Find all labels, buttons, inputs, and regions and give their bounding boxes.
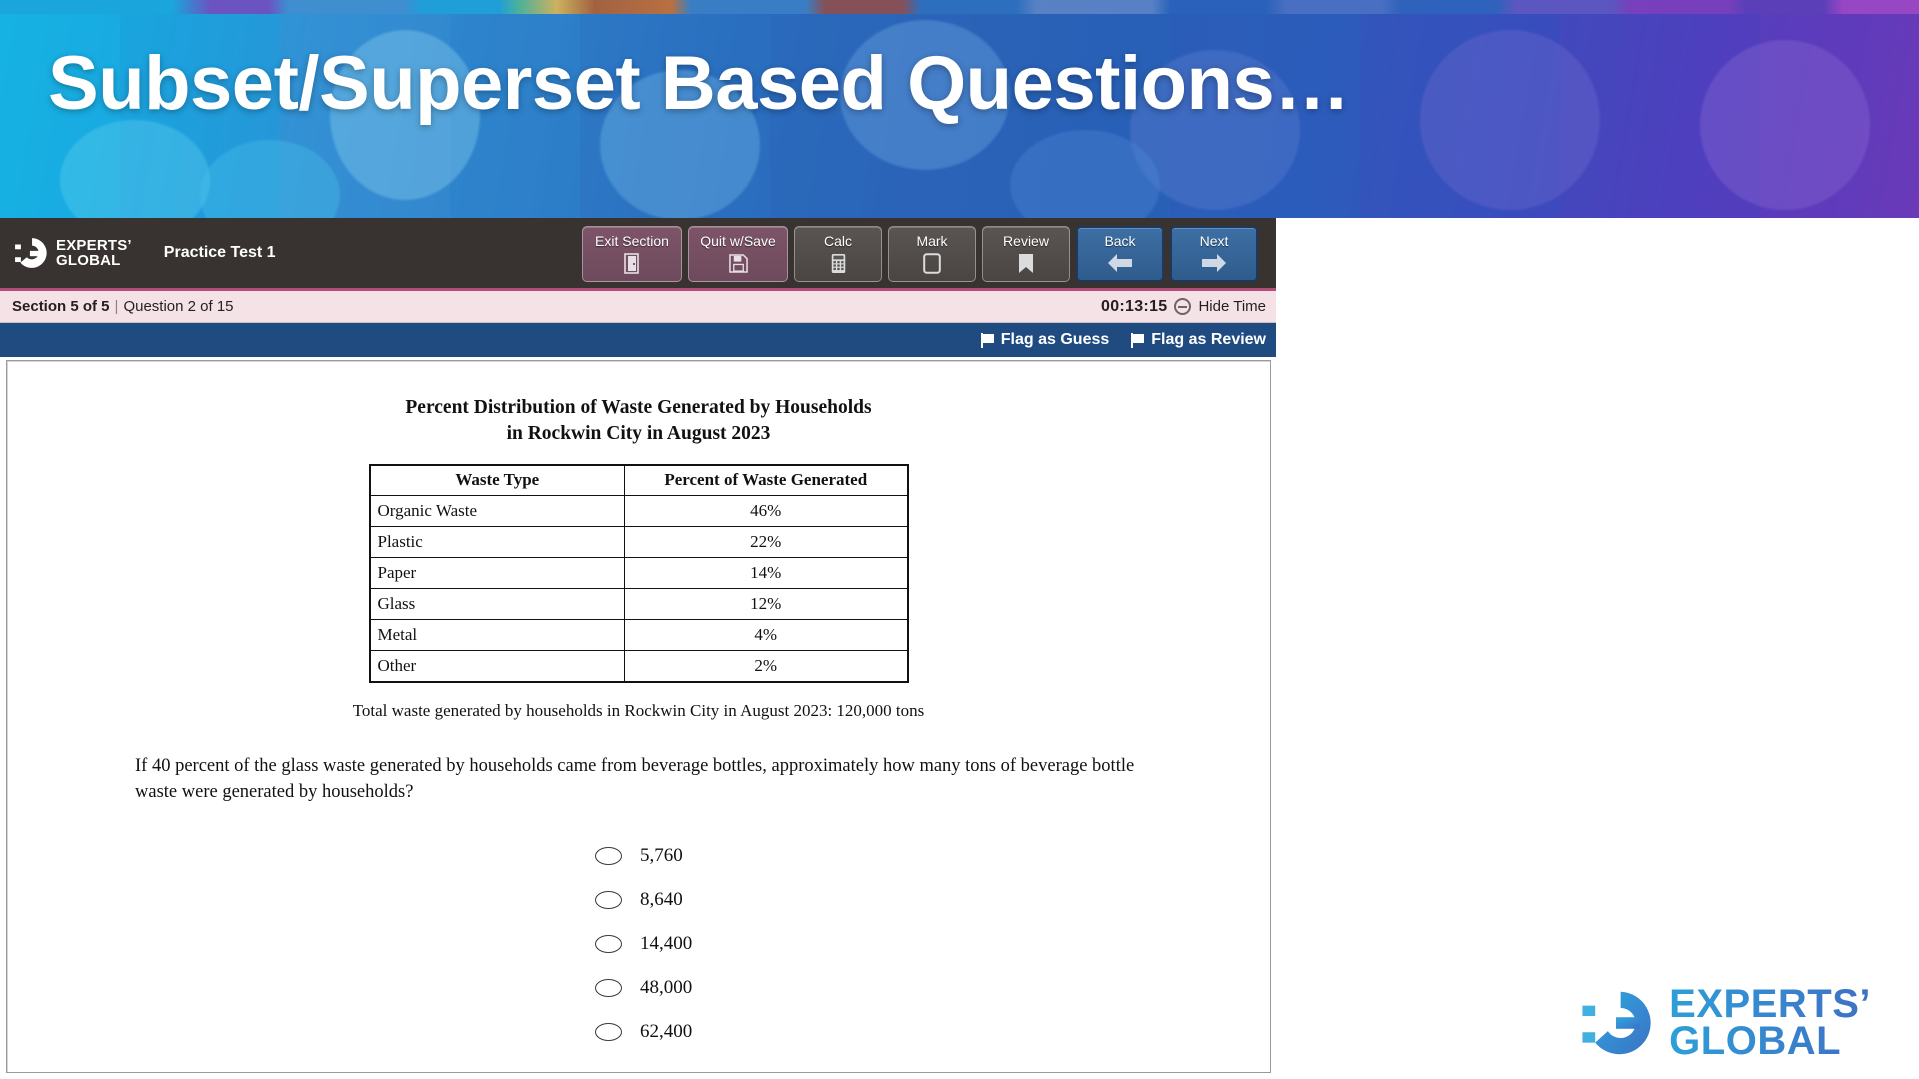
header-logo-text: EXPERTS’ GLOBAL — [56, 238, 132, 268]
waste-distribution-table: Waste Type Percent of Waste Generated Or… — [369, 464, 909, 683]
question-prompt: If 40 percent of the glass waste generat… — [7, 753, 1270, 807]
cell-percent: 22% — [625, 527, 908, 558]
answer-choice[interactable]: 14,400 — [595, 922, 1270, 966]
status-bar: Section 5 of 5|Question 2 of 15 00:13:15… — [0, 291, 1276, 323]
flag-as-guess-button[interactable]: Flag as Guess — [981, 331, 1110, 349]
slide-title: Subset/Superset Based Questions… — [48, 46, 1350, 122]
minus-circle-icon[interactable] — [1174, 298, 1191, 315]
review-label: Review — [1003, 234, 1049, 248]
table-title: Percent Distribution of Waste Generated … — [7, 395, 1270, 448]
table-row: Paper 14% — [370, 558, 908, 589]
table-header-row: Waste Type Percent of Waste Generated — [370, 465, 908, 496]
experts-global-mark-icon — [14, 236, 48, 270]
total-waste-note: Total waste generated by households in R… — [7, 701, 1270, 721]
radio-button[interactable] — [595, 935, 622, 953]
calculator-label: Calc — [824, 234, 852, 248]
question-panel: Percent Distribution of Waste Generated … — [6, 360, 1271, 1073]
table-row: Glass 12% — [370, 589, 908, 620]
header-logo: EXPERTS’ GLOBAL — [14, 236, 132, 270]
practice-test-title: Practice Test 1 — [164, 244, 276, 262]
table-row: Plastic 22% — [370, 527, 908, 558]
experts-global-footer-logo: EXPERTS’ GLOBAL — [1579, 986, 1871, 1061]
flag-as-guess-label: Flag as Guess — [1001, 331, 1110, 349]
cell-percent: 4% — [625, 620, 908, 651]
screenshot-root: Subset/Superset Based Questions… EXPERTS… — [0, 0, 1919, 1079]
table-row: Organic Waste 46% — [370, 496, 908, 527]
answer-choice-label: 14,400 — [640, 933, 692, 955]
experts-global-wordmark: EXPERTS’ GLOBAL — [1669, 986, 1871, 1061]
answer-choice-label: 48,000 — [640, 977, 692, 999]
flag-as-review-button[interactable]: Flag as Review — [1131, 331, 1266, 349]
back-button[interactable]: Back — [1076, 226, 1164, 282]
cell-waste-type: Plastic — [370, 527, 625, 558]
header-brand-line2: GLOBAL — [56, 253, 132, 268]
next-button[interactable]: Next — [1170, 226, 1258, 282]
next-label: Next — [1200, 234, 1229, 248]
answer-choice[interactable]: 8,640 — [595, 878, 1270, 922]
table-row: Metal 4% — [370, 620, 908, 651]
answer-choice-label: 8,640 — [640, 889, 683, 911]
review-button[interactable]: Review — [982, 226, 1070, 282]
toolbar-button-group: Exit Section Quit w/Save Calc — [582, 226, 1258, 282]
cell-percent: 46% — [625, 496, 908, 527]
calculator-icon — [831, 252, 846, 274]
cell-percent: 12% — [625, 589, 908, 620]
cell-waste-type: Other — [370, 651, 625, 682]
progress-indicator: Section 5 of 5|Question 2 of 15 — [12, 298, 234, 315]
answer-choice-list: 5,760 8,640 14,400 48,000 — [7, 834, 1270, 1054]
quit-with-save-button[interactable]: Quit w/Save — [688, 226, 788, 282]
question-indicator: Question 2 of 15 — [123, 298, 233, 315]
countdown-timer: 00:13:15 — [1101, 298, 1167, 316]
flag-as-review-label: Flag as Review — [1151, 331, 1266, 349]
back-label: Back — [1104, 234, 1135, 248]
header-brand-line1: EXPERTS’ — [56, 238, 132, 253]
experts-global-mark-icon — [1579, 986, 1653, 1060]
radio-button[interactable] — [595, 847, 622, 865]
door-icon — [624, 252, 640, 274]
column-header-percent: Percent of Waste Generated — [625, 465, 908, 496]
calculator-button[interactable]: Calc — [794, 226, 882, 282]
question-stem: Percent Distribution of Waste Generated … — [7, 361, 1270, 1054]
cell-waste-type: Metal — [370, 620, 625, 651]
footer-brand-line1: EXPERTS’ — [1669, 986, 1871, 1024]
cell-percent: 14% — [625, 558, 908, 589]
answer-choice[interactable]: 5,760 — [595, 834, 1270, 878]
answer-choice-label: 62,400 — [640, 1021, 692, 1043]
table-row: Other 2% — [370, 651, 908, 682]
flag-icon — [981, 333, 994, 348]
arrow-right-icon — [1201, 252, 1227, 274]
answer-choice[interactable]: 62,400 — [595, 1010, 1270, 1054]
arrow-left-icon — [1107, 252, 1133, 274]
square-icon — [923, 252, 941, 274]
flag-icon — [1131, 333, 1144, 348]
bookmark-icon — [1018, 252, 1034, 274]
test-application-window: EXPERTS’ GLOBAL Practice Test 1 Exit Sec… — [0, 218, 1276, 1079]
table-title-line2: in Rockwin City in August 2023 — [7, 421, 1270, 447]
cell-percent: 2% — [625, 651, 908, 682]
cell-waste-type: Glass — [370, 589, 625, 620]
app-toolbar: EXPERTS’ GLOBAL Practice Test 1 Exit Sec… — [0, 218, 1276, 291]
answer-choice-label: 5,760 — [640, 845, 683, 867]
column-header-waste-type: Waste Type — [370, 465, 625, 496]
radio-button[interactable] — [595, 979, 622, 997]
cell-waste-type: Organic Waste — [370, 496, 625, 527]
mark-button[interactable]: Mark — [888, 226, 976, 282]
exit-section-label: Exit Section — [595, 234, 669, 248]
section-indicator: Section 5 of 5 — [12, 298, 110, 315]
flag-bar: Flag as Guess Flag as Review — [0, 323, 1276, 357]
exit-section-button[interactable]: Exit Section — [582, 226, 682, 282]
answer-choice[interactable]: 48,000 — [595, 966, 1270, 1010]
table-title-line1: Percent Distribution of Waste Generated … — [7, 395, 1270, 421]
slide-banner: Subset/Superset Based Questions… — [0, 0, 1919, 218]
footer-brand-line2: GLOBAL — [1669, 1023, 1871, 1061]
radio-button[interactable] — [595, 891, 622, 909]
hide-time-button[interactable]: Hide Time — [1198, 298, 1266, 315]
timer-area: 00:13:15 Hide Time — [1101, 298, 1266, 316]
quit-with-save-label: Quit w/Save — [700, 234, 775, 248]
cell-waste-type: Paper — [370, 558, 625, 589]
banner-color-strip — [0, 0, 1919, 14]
radio-button[interactable] — [595, 1023, 622, 1041]
status-separator: | — [115, 298, 119, 315]
mark-label: Mark — [916, 234, 947, 248]
floppy-disk-icon — [729, 252, 748, 274]
